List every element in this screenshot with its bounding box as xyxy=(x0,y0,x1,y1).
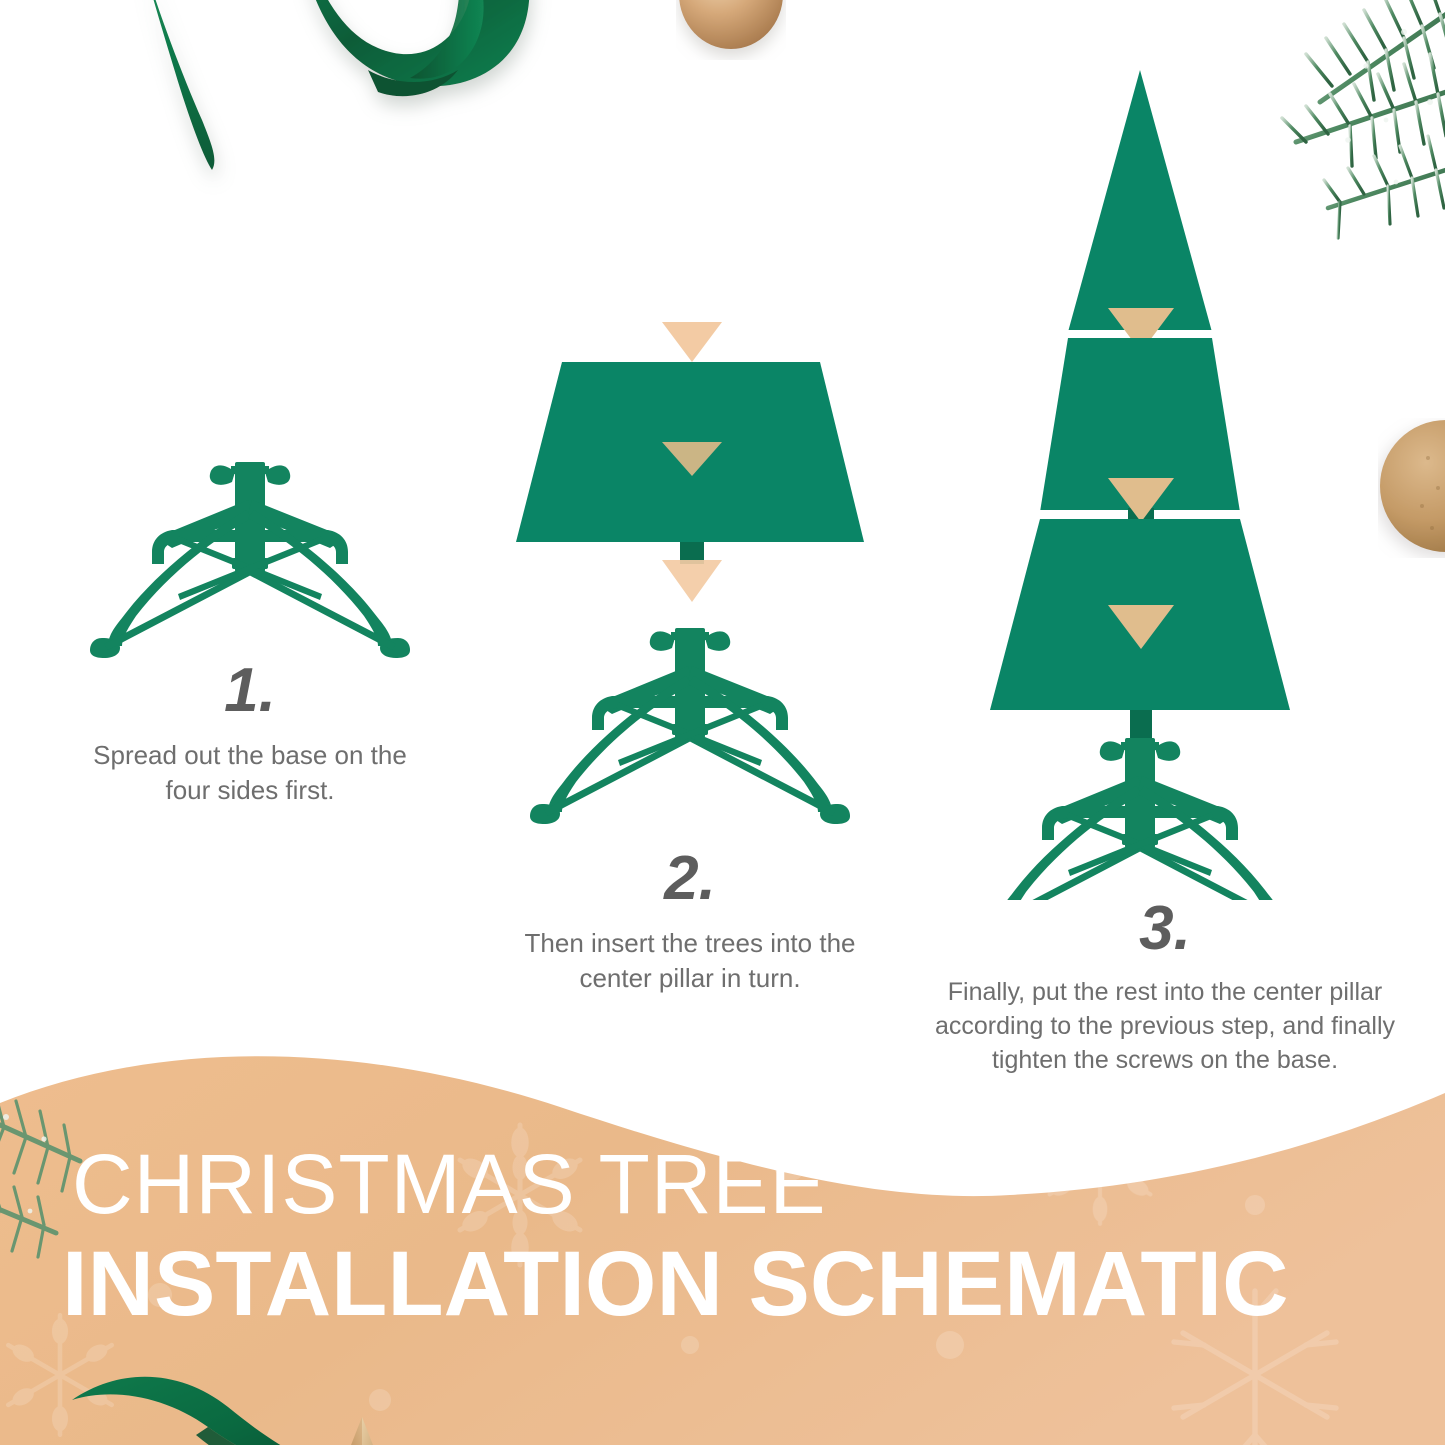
step-1-text-line1: Spread out the base on the xyxy=(93,740,407,770)
step-1-text-line2: four sides first. xyxy=(165,775,334,805)
step-1-text: Spread out the base on the four sides fi… xyxy=(50,738,450,808)
step-1: 1. Spread out the base on the four sides… xyxy=(50,660,450,808)
tree-arrow-3 xyxy=(1108,605,1174,649)
gold-ornament-ball-icon xyxy=(676,0,786,60)
tree-section-trapezoid xyxy=(516,362,864,542)
insert-arrow-inner xyxy=(662,442,722,476)
gold-ornament-ball-right-icon xyxy=(1378,418,1445,558)
tree-arrow-1 xyxy=(1108,308,1174,352)
step-2-number: 2. xyxy=(490,848,890,910)
step-2-text-line1: Then insert the trees into the xyxy=(525,928,856,958)
banner-title-line1: CHRISTMAS TREE xyxy=(0,1143,1445,1226)
tree-top-section xyxy=(1068,70,1212,332)
bottom-banner: CHRISTMAS TREE INSTALLATION SCHEMATIC xyxy=(0,1045,1445,1445)
infographic-page: 1. Spread out the base on the four sides… xyxy=(0,0,1445,1445)
green-ribbon-curl-icon xyxy=(110,0,750,200)
banner-title: CHRISTMAS TREE INSTALLATION SCHEMATIC xyxy=(0,1143,1445,1332)
tree-stand-base-graphic xyxy=(60,440,440,660)
step-1-number: 1. xyxy=(50,660,450,722)
frosted-pine-branch-icon xyxy=(1190,0,1445,250)
banner-title-line2: INSTALLATION SCHEMATIC xyxy=(0,1238,1445,1332)
insert-arrow-top xyxy=(662,322,722,362)
insert-arrow-bottom xyxy=(662,560,722,602)
tree-arrow-2 xyxy=(1108,478,1174,522)
step-2-text: Then insert the trees into the center pi… xyxy=(490,926,890,996)
step-2: 2. Then insert the trees into the center… xyxy=(490,848,890,996)
tree-section-over-stand-graphic xyxy=(490,310,890,830)
step-3-text-line2: according to the previous step, and fina… xyxy=(935,1012,1395,1040)
center-pillar-stub xyxy=(680,542,704,564)
step-2-text-line2: center pillar in turn. xyxy=(579,963,800,993)
center-pillar-stub-3 xyxy=(1130,710,1152,738)
step-3-text-line1: Finally, put the rest into the center pi… xyxy=(948,978,1382,1006)
step-3-number: 3. xyxy=(930,898,1400,960)
assembled-tree-on-stand-graphic xyxy=(940,60,1340,900)
tree-bottom-section xyxy=(990,519,1290,710)
